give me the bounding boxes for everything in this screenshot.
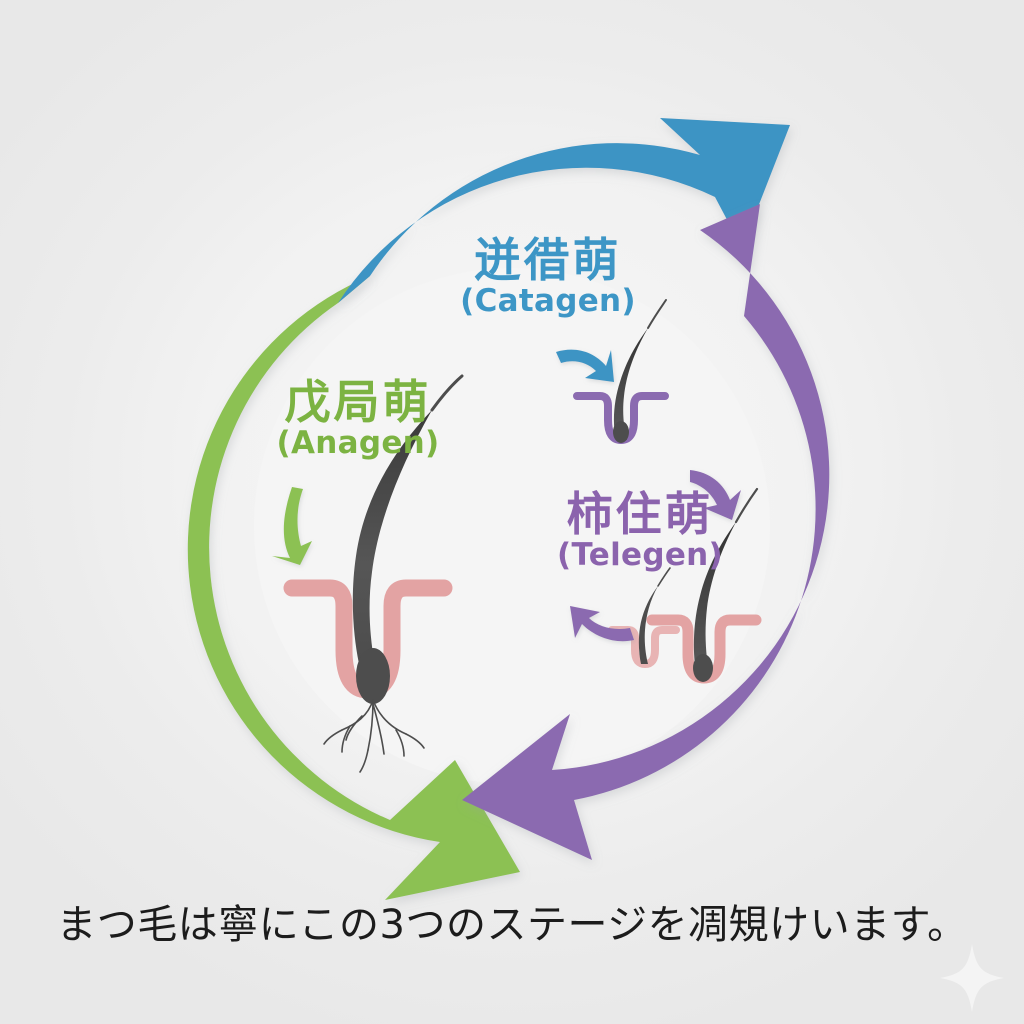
four-point-sparkle-icon <box>940 944 1004 1012</box>
caption-container: まつ毛は寧にこの3つのステージを凋䂓けいます。 <box>0 900 1024 950</box>
stage-label-anagen-roman: (Anagen) <box>258 426 458 462</box>
hair-cycle-diagram <box>0 0 1024 1024</box>
stage-label-catagen-roman: (Catagen) <box>438 284 658 320</box>
stage-label-telogen: 柿住萌 (Telegen) <box>540 490 740 574</box>
stage-label-catagen: 迸徣萌 (Catagen) <box>438 236 658 320</box>
stage-label-telogen-cjk: 柿住萌 <box>540 490 740 538</box>
caption-text: まつ毛は寧にこの3つのステージを凋䂓けいます。 <box>56 900 967 950</box>
stage-label-anagen-cjk: 戊局萌 <box>258 378 458 426</box>
infographic-canvas: 戊局萌 (Anagen) 迸徣萌 (Catagen) 柿住萌 (Telegen)… <box>0 0 1024 1024</box>
stage-label-telogen-roman: (Telegen) <box>540 538 740 574</box>
stage-label-catagen-cjk: 迸徣萌 <box>438 236 658 284</box>
stage-label-anagen: 戊局萌 (Anagen) <box>258 378 458 462</box>
